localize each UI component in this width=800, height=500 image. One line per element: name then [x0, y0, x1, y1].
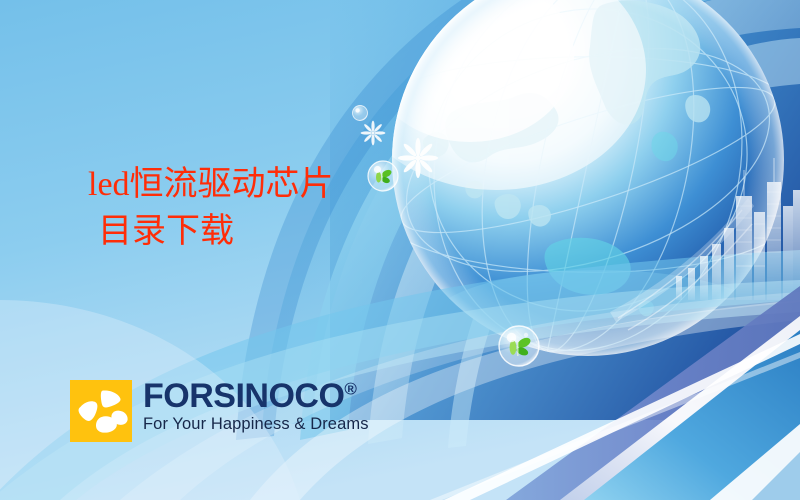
logo-tagline: For Your Happiness & Dreams [143, 415, 369, 434]
headline-line-2: 目录下载 [98, 215, 428, 250]
headline-line-1: led恒流驱动芯片 [88, 168, 428, 203]
logo-wordmark-text: FORSINOCO [143, 377, 344, 415]
company-logo: FORSINOCO® For Your Happiness & Dreams [70, 380, 369, 442]
logo-text-block: FORSINOCO® For Your Happiness & Dreams [143, 379, 369, 434]
four-petal-flower-icon [70, 380, 132, 442]
bubble-decoration [353, 106, 368, 121]
starburst-decoration [361, 121, 386, 146]
registered-trademark-icon: ® [344, 380, 356, 399]
slide-headline: led恒流驱动芯片 目录下载 [88, 168, 428, 249]
bubble-sprout-decoration [499, 326, 539, 366]
slide-canvas: led恒流驱动芯片 目录下载 FORSINOCO® For Your Happi… [0, 0, 800, 500]
logo-wordmark: FORSINOCO® [143, 379, 369, 413]
